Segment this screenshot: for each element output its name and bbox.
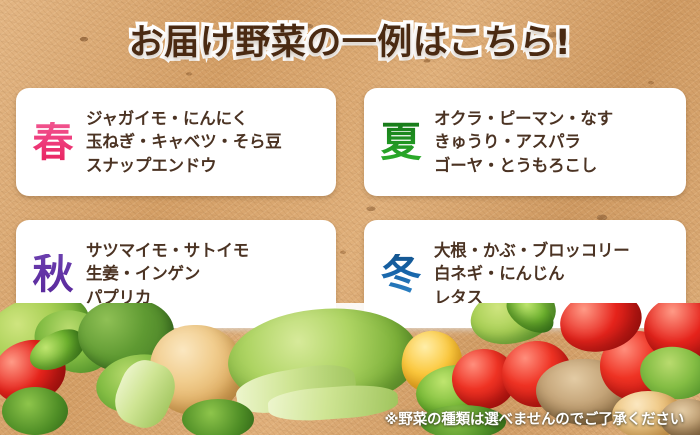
season-kanji-winter: 冬	[368, 254, 434, 295]
footer-note: ※野菜の種類は選べませんのでご了承ください	[385, 408, 684, 429]
season-kanji-autumn: 秋	[20, 254, 86, 295]
poster-root: お届け野菜の一例はこちら! 春 ジャガイモ・にんにく 玉ねぎ・キャベツ・そら豆 …	[0, 0, 700, 435]
veg-line: オクラ・ピーマン・なす	[434, 107, 678, 130]
page-title: お届け野菜の一例はこちら!	[129, 14, 571, 65]
veg-line: 玉ねぎ・キャベツ・そら豆	[86, 130, 328, 153]
veg-line: 白ネギ・にんじん	[434, 262, 678, 285]
parsley	[182, 399, 254, 435]
veg-line: サツマイモ・サトイモ	[86, 239, 328, 262]
parsley	[2, 387, 68, 435]
season-veg-list-winter: 大根・かぶ・ブロッコリー 白ネギ・にんじん レタス	[434, 239, 686, 309]
season-card-summer: 夏 オクラ・ピーマン・なす きゅうり・アスパラ ゴーヤ・とうもろこし	[364, 88, 686, 196]
veg-line: ジャガイモ・にんにく	[86, 107, 328, 130]
season-veg-list-autumn: サツマイモ・サトイモ 生姜・インゲン パプリカ	[86, 239, 336, 309]
season-kanji-spring: 春	[20, 122, 86, 163]
veg-line: 大根・かぶ・ブロッコリー	[434, 239, 678, 262]
veg-line: スナップエンドウ	[86, 154, 328, 177]
season-veg-list-summer: オクラ・ピーマン・なす きゅうり・アスパラ ゴーヤ・とうもろこし	[434, 107, 686, 177]
season-card-spring: 春 ジャガイモ・にんにく 玉ねぎ・キャベツ・そら豆 スナップエンドウ	[16, 88, 336, 196]
veg-line: ゴーヤ・とうもろこし	[434, 154, 678, 177]
veg-line: 生姜・インゲン	[86, 262, 328, 285]
veg-line: きゅうり・アスパラ	[434, 130, 678, 153]
season-kanji-summer: 夏	[368, 122, 434, 163]
season-veg-list-spring: ジャガイモ・にんにく 玉ねぎ・キャベツ・そら豆 スナップエンドウ	[86, 107, 336, 177]
page-title-wrap: お届け野菜の一例はこちら!	[0, 6, 700, 72]
